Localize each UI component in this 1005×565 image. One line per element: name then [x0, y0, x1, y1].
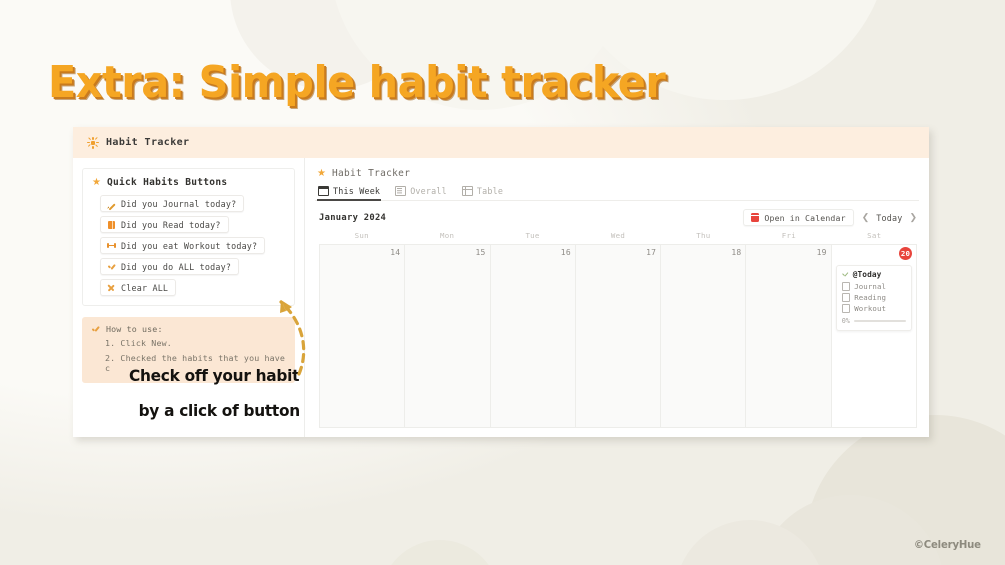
- background-blob: [380, 540, 500, 565]
- watermark: ©CeleryHue: [914, 538, 981, 551]
- calendar-day-cell[interactable]: 14: [320, 245, 405, 428]
- calendar-day-cell[interactable]: 15: [405, 245, 490, 428]
- day-number: 16: [495, 248, 571, 257]
- dumbbell-icon: [107, 241, 116, 250]
- checkbox-journal[interactable]: [842, 282, 851, 291]
- habit-checkbox-label: Workout: [854, 304, 886, 313]
- habit-checkbox-row[interactable]: Journal: [842, 282, 906, 291]
- page-title: Extra: Simple habit tracker: [48, 57, 665, 108]
- checkbox-workout[interactable]: [842, 304, 851, 313]
- tab-label: This Week: [333, 186, 380, 196]
- habit-button-label: Did you Read today?: [121, 220, 221, 230]
- calendar-icon: [318, 186, 329, 196]
- tab-overall[interactable]: Overall: [394, 186, 448, 200]
- day-header: Thu: [661, 231, 746, 244]
- habit-checkbox-row[interactable]: Reading: [842, 293, 906, 302]
- habit-tracker-view-title: ★ Habit Tracker: [315, 168, 919, 179]
- calendar-day-headers: Sun Mon Tue Wed Thu Fri Sat: [319, 231, 917, 244]
- check-icon: [107, 262, 116, 271]
- chart-icon: [395, 186, 406, 196]
- habit-progress: 0%: [842, 317, 906, 325]
- grid-icon: [462, 186, 473, 196]
- habit-checkbox-row[interactable]: Workout: [842, 304, 906, 313]
- quick-habits-card-title: ★ Quick Habits Buttons: [92, 177, 285, 188]
- tab-table[interactable]: Table: [461, 186, 504, 200]
- day-number: 17: [580, 248, 656, 257]
- chevron-left-icon[interactable]: ❮: [862, 213, 870, 222]
- right-panel: ★ Habit Tracker This Week Overall Table: [305, 158, 929, 437]
- day-number: 19: [750, 248, 826, 257]
- check-icon: [91, 325, 100, 334]
- tab-label: Overall: [410, 186, 447, 196]
- book-icon: [107, 220, 116, 229]
- habit-button-label: Did you do ALL today?: [121, 262, 231, 272]
- habit-button-label: Clear ALL: [121, 283, 168, 293]
- how-to-use-heading: How to use:: [91, 324, 286, 334]
- habit-button-label: Did you eat Workout today?: [121, 241, 257, 251]
- open-in-calendar-label: Open in Calendar: [764, 213, 845, 223]
- day-number: 14: [324, 248, 400, 257]
- day-header: Wed: [575, 231, 660, 244]
- habit-button-workout[interactable]: Did you eat Workout today?: [100, 237, 265, 254]
- star-icon: ★: [317, 169, 326, 179]
- habit-event-title: @Today: [842, 270, 906, 279]
- day-number: 18: [665, 248, 741, 257]
- tab-label: Table: [477, 186, 503, 196]
- app-header: Habit Tracker: [73, 127, 929, 158]
- habit-button-label: Did you Journal today?: [121, 199, 236, 209]
- calendar: Sun Mon Tue Wed Thu Fri Sat 14 15: [319, 231, 917, 428]
- habit-checkbox-label: Reading: [854, 293, 886, 302]
- how-to-use-heading-label: How to use:: [106, 324, 163, 334]
- calendar-toolbar: January 2024 Open in Calendar ❮ Today ❯: [319, 209, 917, 226]
- habit-event-title-label: @Today: [853, 270, 882, 279]
- quick-habits-card: ★ Quick Habits Buttons Did you Journal t…: [82, 168, 295, 306]
- checkbox-reading[interactable]: [842, 293, 851, 302]
- habit-button-clear-all[interactable]: Clear ALL: [100, 279, 176, 296]
- day-header: Tue: [490, 231, 575, 244]
- annotation-arrow-icon: [259, 288, 311, 378]
- calendar-day-cell[interactable]: 18: [661, 245, 746, 428]
- app-window: Habit Tracker ★ Quick Habits Buttons Did…: [73, 127, 929, 437]
- pencil-icon: [107, 199, 116, 208]
- habit-button-read[interactable]: Did you Read today?: [100, 216, 229, 233]
- calendar-controls: Open in Calendar ❮ Today ❯: [743, 209, 917, 226]
- habit-event-card[interactable]: @Today Journal Reading: [836, 265, 912, 331]
- open-in-calendar-button[interactable]: Open in Calendar: [743, 209, 854, 226]
- day-header: Fri: [746, 231, 831, 244]
- habit-checkbox-label: Journal: [854, 282, 886, 291]
- calendar-day-cell[interactable]: 16: [491, 245, 576, 428]
- view-tabs: This Week Overall Table: [315, 186, 919, 201]
- annotation-line-2: by a click of button: [139, 403, 300, 419]
- calendar-nav: ❮ Today ❯: [862, 213, 917, 223]
- day-header: Mon: [404, 231, 489, 244]
- app-body: ★ Quick Habits Buttons Did you Journal t…: [73, 158, 929, 437]
- calendar-month-label: January 2024: [319, 213, 386, 223]
- day-header: Sun: [319, 231, 404, 244]
- app-title: Habit Tracker: [106, 137, 189, 148]
- today-button[interactable]: Today: [876, 213, 902, 223]
- calendar-day-cell-today[interactable]: 20 @Today Journal: [832, 245, 917, 428]
- calendar-day-cell[interactable]: 19: [746, 245, 831, 428]
- habit-button-journal[interactable]: Did you Journal today?: [100, 195, 244, 212]
- calendar-red-icon: [751, 213, 760, 222]
- habit-progress-bar: [854, 320, 906, 321]
- quick-habits-title-label: Quick Habits Buttons: [107, 177, 227, 188]
- star-icon: ★: [92, 178, 101, 188]
- quick-habits-button-list: Did you Journal today? Did you Read toda…: [92, 195, 285, 296]
- sun-icon: [87, 137, 99, 149]
- tab-this-week[interactable]: This Week: [317, 186, 381, 200]
- left-panel: ★ Quick Habits Buttons Did you Journal t…: [73, 158, 305, 437]
- habit-button-all[interactable]: Did you do ALL today?: [100, 258, 239, 275]
- chevron-right-icon[interactable]: ❯: [909, 213, 917, 222]
- day-header: Sat: [832, 231, 917, 244]
- calendar-grid: 14 15 16 17 18 19: [319, 244, 917, 428]
- calendar-day-cell[interactable]: 17: [576, 245, 661, 428]
- habit-tracker-view-title-label: Habit Tracker: [332, 168, 410, 179]
- habit-progress-label: 0%: [842, 317, 850, 325]
- day-number: 15: [409, 248, 485, 257]
- check-icon: [842, 271, 849, 278]
- today-badge: 20: [899, 247, 912, 260]
- close-icon: [107, 283, 116, 292]
